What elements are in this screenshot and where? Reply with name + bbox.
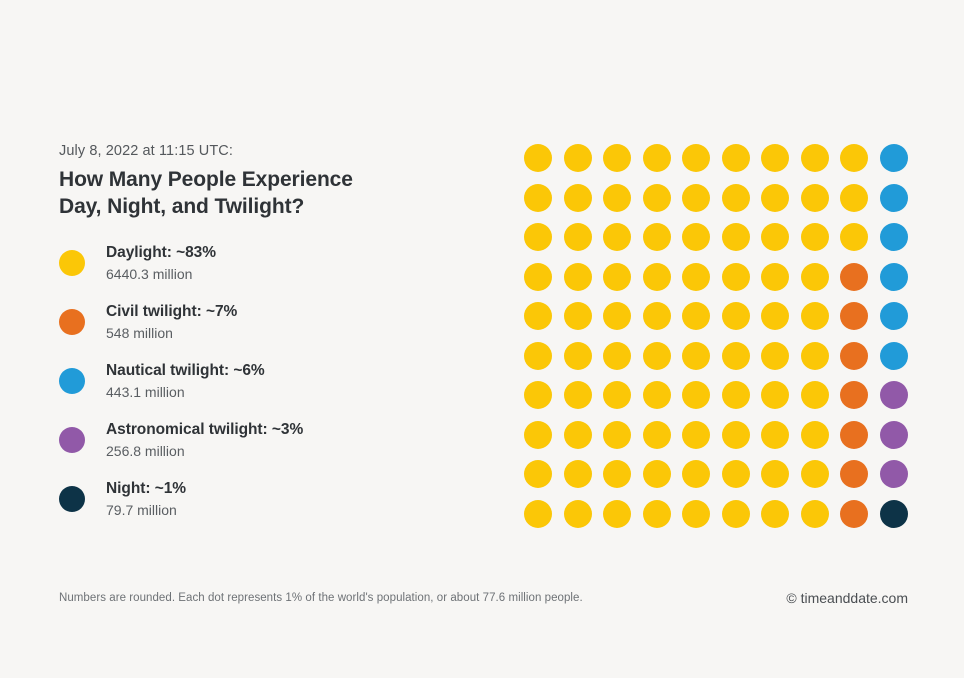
dot-daylight [643, 342, 671, 370]
legend-value-astronomical-twilight: 256.8 million [106, 442, 479, 460]
dot-nautical-twilight [880, 144, 908, 172]
dot-daylight [801, 342, 829, 370]
legend-value-daylight: 6440.3 million [106, 265, 479, 283]
dot-daylight [524, 223, 552, 251]
dot-daylight [682, 263, 710, 291]
dot-night [880, 500, 908, 528]
dot-daylight [682, 500, 710, 528]
dot-daylight [603, 342, 631, 370]
dot-daylight [722, 342, 750, 370]
legend-item-astronomical-twilight[interactable]: Astronomical twilight: ~3%256.8 million [59, 420, 479, 466]
dot-astronomical-twilight [880, 381, 908, 409]
dot-daylight [643, 144, 671, 172]
dot-daylight [722, 421, 750, 449]
footer-note: Numbers are rounded. Each dot represents… [59, 592, 583, 604]
dot-daylight [761, 144, 789, 172]
page-title: How Many People Experience Day, Night, a… [59, 166, 479, 220]
legend-swatch-astronomical-twilight-icon [59, 427, 85, 453]
dot-daylight [722, 184, 750, 212]
dot-daylight [524, 500, 552, 528]
dot-nautical-twilight [880, 223, 908, 251]
dot-daylight [564, 302, 592, 330]
dot-daylight [761, 263, 789, 291]
dot-daylight [761, 381, 789, 409]
dot-daylight [801, 184, 829, 212]
dot-civil-twilight [840, 263, 868, 291]
dot-daylight [643, 460, 671, 488]
dot-daylight [722, 302, 750, 330]
dot-daylight [603, 144, 631, 172]
dot-nautical-twilight [880, 263, 908, 291]
dot-daylight [524, 263, 552, 291]
page-title-line-1: How Many People Experience [59, 168, 353, 191]
legend-swatch-civil-twilight-icon [59, 309, 85, 335]
dot-daylight [682, 381, 710, 409]
dot-daylight [603, 223, 631, 251]
dot-daylight [564, 500, 592, 528]
legend-value-night: 79.7 million [106, 501, 479, 519]
dot-daylight [564, 223, 592, 251]
dot-daylight [603, 302, 631, 330]
dot-daylight [801, 144, 829, 172]
dot-daylight [603, 421, 631, 449]
dot-daylight [722, 381, 750, 409]
dot-daylight [722, 460, 750, 488]
dot-daylight [840, 144, 868, 172]
dot-daylight [801, 421, 829, 449]
dot-grid [524, 144, 919, 539]
dot-daylight [801, 263, 829, 291]
dot-daylight [643, 381, 671, 409]
legend-label-civil-twilight: Civil twilight: ~7% [106, 302, 479, 322]
dot-daylight [643, 223, 671, 251]
legend-swatch-nautical-twilight-icon [59, 368, 85, 394]
dot-daylight [524, 460, 552, 488]
dot-daylight [643, 302, 671, 330]
dot-civil-twilight [840, 421, 868, 449]
dot-daylight [643, 184, 671, 212]
dot-daylight [761, 223, 789, 251]
dot-civil-twilight [840, 500, 868, 528]
dot-daylight [524, 184, 552, 212]
dot-daylight [801, 223, 829, 251]
dot-daylight [682, 184, 710, 212]
legend-swatch-night-icon [59, 486, 85, 512]
dot-civil-twilight [840, 342, 868, 370]
dot-daylight [722, 263, 750, 291]
dot-daylight [564, 460, 592, 488]
legend-item-civil-twilight[interactable]: Civil twilight: ~7%548 million [59, 302, 479, 348]
dot-nautical-twilight [880, 184, 908, 212]
dot-daylight [603, 460, 631, 488]
dot-daylight [524, 144, 552, 172]
dot-daylight [603, 500, 631, 528]
dot-daylight [682, 144, 710, 172]
dot-civil-twilight [840, 302, 868, 330]
legend-item-nautical-twilight[interactable]: Nautical twilight: ~6%443.1 million [59, 361, 479, 407]
dot-daylight [643, 263, 671, 291]
dot-civil-twilight [840, 460, 868, 488]
dot-daylight [682, 460, 710, 488]
dot-nautical-twilight [880, 342, 908, 370]
dot-daylight [682, 342, 710, 370]
dot-daylight [761, 421, 789, 449]
dot-astronomical-twilight [880, 460, 908, 488]
dot-daylight [722, 223, 750, 251]
dot-daylight [524, 342, 552, 370]
dot-daylight [564, 144, 592, 172]
legend-value-nautical-twilight: 443.1 million [106, 383, 479, 401]
legend-item-night[interactable]: Night: ~1%79.7 million [59, 479, 479, 525]
dot-daylight [761, 342, 789, 370]
dot-daylight [801, 381, 829, 409]
header-block: July 8, 2022 at 11:15 UTC: How Many Peop… [59, 143, 479, 220]
dot-daylight [761, 500, 789, 528]
legend-label-astronomical-twilight: Astronomical twilight: ~3% [106, 420, 479, 440]
dot-daylight [564, 342, 592, 370]
dot-daylight [603, 263, 631, 291]
dot-daylight [682, 421, 710, 449]
dot-daylight [564, 263, 592, 291]
dot-daylight [524, 381, 552, 409]
dot-daylight [524, 421, 552, 449]
dot-astronomical-twilight [880, 421, 908, 449]
dot-daylight [564, 421, 592, 449]
dot-daylight [524, 302, 552, 330]
date-label: July 8, 2022 at 11:15 UTC: [59, 143, 479, 159]
dot-daylight [722, 144, 750, 172]
dot-daylight [722, 500, 750, 528]
dot-daylight [682, 302, 710, 330]
legend-label-nautical-twilight: Nautical twilight: ~6% [106, 361, 479, 381]
infographic-canvas: July 8, 2022 at 11:15 UTC: How Many Peop… [0, 0, 964, 678]
legend: Daylight: ~83%6440.3 millionCivil twilig… [59, 243, 479, 525]
dot-daylight [840, 223, 868, 251]
legend-label-daylight: Daylight: ~83% [106, 243, 479, 263]
dot-daylight [643, 500, 671, 528]
page-title-line-2: Day, Night, and Twilight? [59, 195, 304, 218]
dot-daylight [564, 184, 592, 212]
dot-daylight [761, 302, 789, 330]
dot-daylight [761, 460, 789, 488]
dot-civil-twilight [840, 381, 868, 409]
legend-label-night: Night: ~1% [106, 479, 479, 499]
dot-daylight [682, 223, 710, 251]
dot-daylight [801, 302, 829, 330]
dot-nautical-twilight [880, 302, 908, 330]
dot-daylight [840, 184, 868, 212]
dot-daylight [603, 381, 631, 409]
legend-value-civil-twilight: 548 million [106, 324, 479, 342]
legend-item-daylight[interactable]: Daylight: ~83%6440.3 million [59, 243, 479, 289]
dot-daylight [801, 500, 829, 528]
dot-daylight [761, 184, 789, 212]
legend-swatch-daylight-icon [59, 250, 85, 276]
dot-daylight [801, 460, 829, 488]
dot-daylight [643, 421, 671, 449]
dot-daylight [603, 184, 631, 212]
footer-brand: © timeanddate.com [786, 590, 908, 606]
dot-daylight [564, 381, 592, 409]
